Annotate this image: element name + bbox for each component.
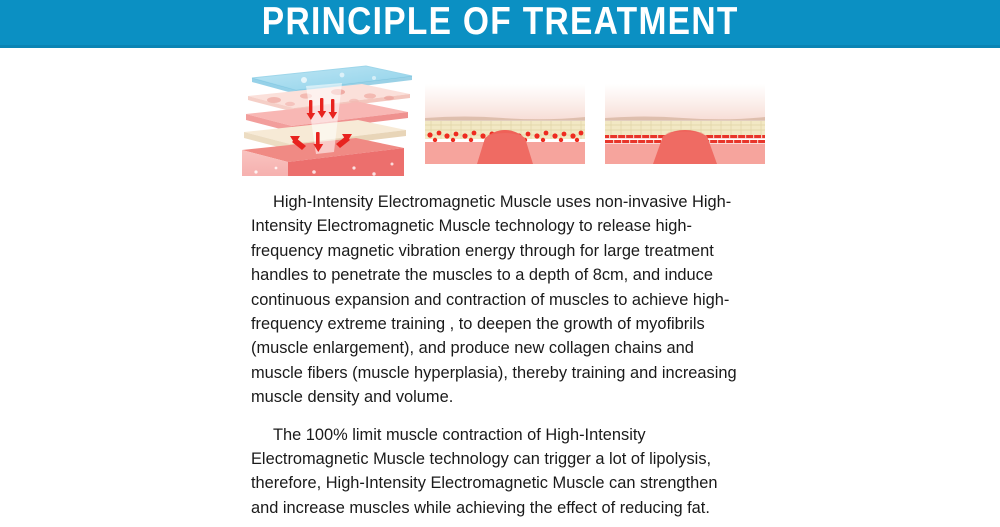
- paragraph-principle-description: High-Intensity Electromagnetic Muscle us…: [251, 190, 743, 410]
- paragraph-lipolysis-description: The 100% limit muscle contraction of Hig…: [251, 423, 743, 521]
- header-banner: PRINCIPLE OF TREATMENT: [0, 0, 1000, 48]
- illustration-row: [0, 48, 1000, 188]
- body-copy: High-Intensity Electromagnetic Muscle us…: [251, 190, 743, 520]
- muscle-contraction-cross-section-icon: [425, 84, 585, 164]
- muscle-relaxed-cross-section-icon: [605, 84, 765, 164]
- layered-skin-3d-diagram-icon: [234, 56, 419, 176]
- page-title: PRINCIPLE OF TREATMENT: [262, 2, 739, 41]
